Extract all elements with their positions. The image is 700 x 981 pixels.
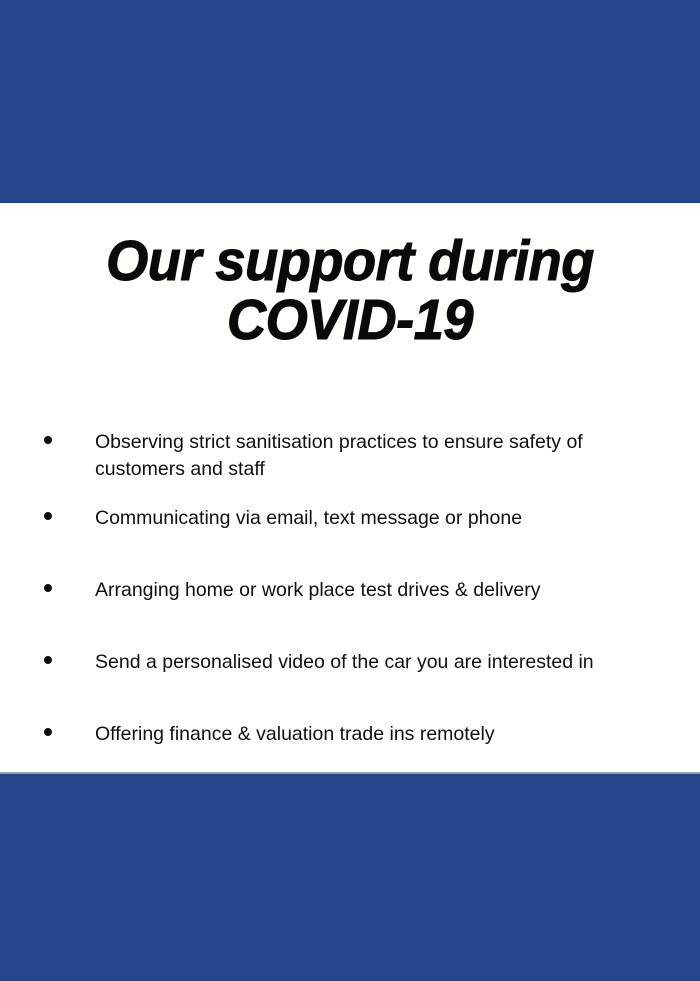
bullet-dot-icon [44,512,52,520]
bullet-dot-icon [44,728,52,736]
list-item: Offering finance & valuation trade ins r… [0,721,700,771]
list-item: Send a personalised video of the car you… [0,649,700,699]
content-panel: Our support during COVID-19 Observing st… [0,203,700,772]
bullet-dot-icon [44,584,52,592]
page-title-line-2: COVID-19 [18,291,683,350]
list-item-label: Send a personalised video of the car you… [95,649,656,676]
list-item-label: Offering finance & valuation trade ins r… [95,721,656,748]
page-title: Our support during COVID-19 [18,232,683,350]
covid-support-poster: Our support during COVID-19 Observing st… [0,0,700,981]
list-item-label: Communicating via email, text message or… [95,505,656,532]
bottom-blue-band [0,772,700,981]
bullet-dot-icon [44,436,52,444]
bullet-dot-icon [44,656,52,664]
top-blue-band [0,0,700,205]
list-item: Observing strict sanitisation practices … [0,429,700,483]
list-item-label: Observing strict sanitisation practices … [95,429,656,483]
list-item: Communicating via email, text message or… [0,505,700,555]
list-item-label: Arranging home or work place test drives… [95,577,656,604]
list-item: Arranging home or work place test drives… [0,577,700,627]
page-title-line-1: Our support during [18,232,683,291]
